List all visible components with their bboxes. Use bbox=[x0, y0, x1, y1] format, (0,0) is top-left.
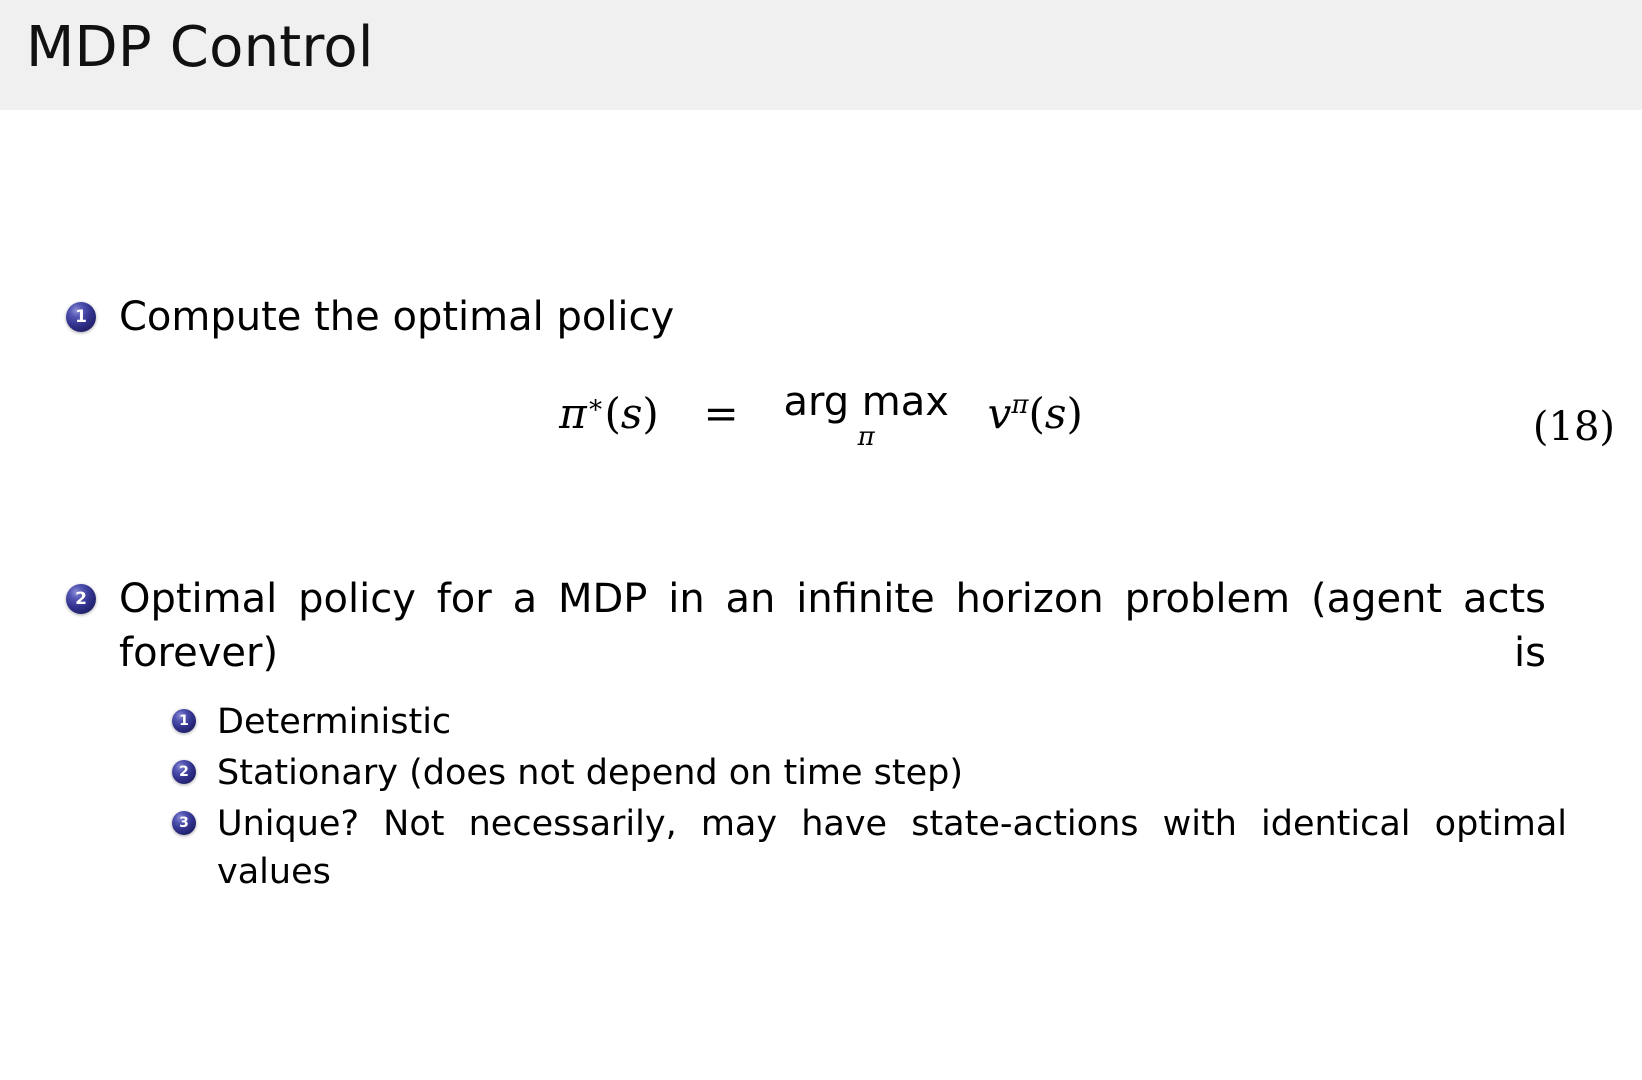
equation-expression: π∗(s) = arg max π vπ(s) bbox=[0, 382, 1642, 450]
open-paren-2: ( bbox=[1029, 389, 1045, 438]
slide-body: 1 Compute the optimal policy π∗(s) = arg… bbox=[0, 110, 1642, 1080]
enumerate-marker-icon: 1 bbox=[66, 302, 96, 332]
slide-header: MDP Control bbox=[0, 0, 1642, 110]
open-paren: ( bbox=[604, 389, 620, 438]
list-item-label: Compute the optimal policy bbox=[119, 290, 674, 344]
equation-lhs: π∗(s) bbox=[559, 393, 659, 435]
s-variable: s bbox=[621, 389, 643, 438]
enumerate-marker-icon: 2 bbox=[66, 584, 96, 614]
sublist-item-3: 3 Unique? Not necessarily, may have stat… bbox=[172, 800, 1567, 944]
page-title: MDP Control bbox=[26, 20, 374, 76]
equation-rhs: vπ(s) bbox=[988, 393, 1083, 435]
sublist-item-label: Deterministic bbox=[217, 698, 1567, 746]
enumerate-marker-icon: 1 bbox=[172, 709, 196, 733]
argmax-subscript: π bbox=[783, 424, 949, 450]
argmax-operator: arg max π bbox=[783, 382, 949, 450]
list-item-1: 1 Compute the optimal policy bbox=[66, 290, 1566, 344]
enumerate-marker-icon: 3 bbox=[172, 811, 196, 835]
argmax-label: arg max bbox=[783, 382, 949, 422]
v-superscript-pi: π bbox=[1011, 390, 1028, 420]
sublist-item-1: 1 Deterministic bbox=[172, 698, 1567, 746]
equation-number: (18) bbox=[1533, 404, 1615, 450]
sublist-item-2: 2 Stationary (does not depend on time st… bbox=[172, 749, 1567, 797]
equation-block: π∗(s) = arg max π vπ(s) (18) bbox=[0, 382, 1642, 492]
close-paren: ) bbox=[642, 389, 658, 438]
sublist-item-label: Unique? Not necessarily, may have state-… bbox=[217, 800, 1567, 944]
sublist-item-label: Stationary (does not depend on time step… bbox=[217, 749, 1567, 797]
enumerate-marker-icon: 2 bbox=[172, 760, 196, 784]
star-superscript: ∗ bbox=[587, 390, 605, 420]
pi-symbol: π bbox=[559, 389, 587, 438]
sublist: 1 Deterministic 2 Stationary (does not d… bbox=[172, 698, 1567, 947]
s-variable-2: s bbox=[1045, 389, 1067, 438]
close-paren-2: ) bbox=[1066, 389, 1082, 438]
v-variable: v bbox=[988, 389, 1012, 438]
equals-sign: = bbox=[704, 393, 739, 435]
